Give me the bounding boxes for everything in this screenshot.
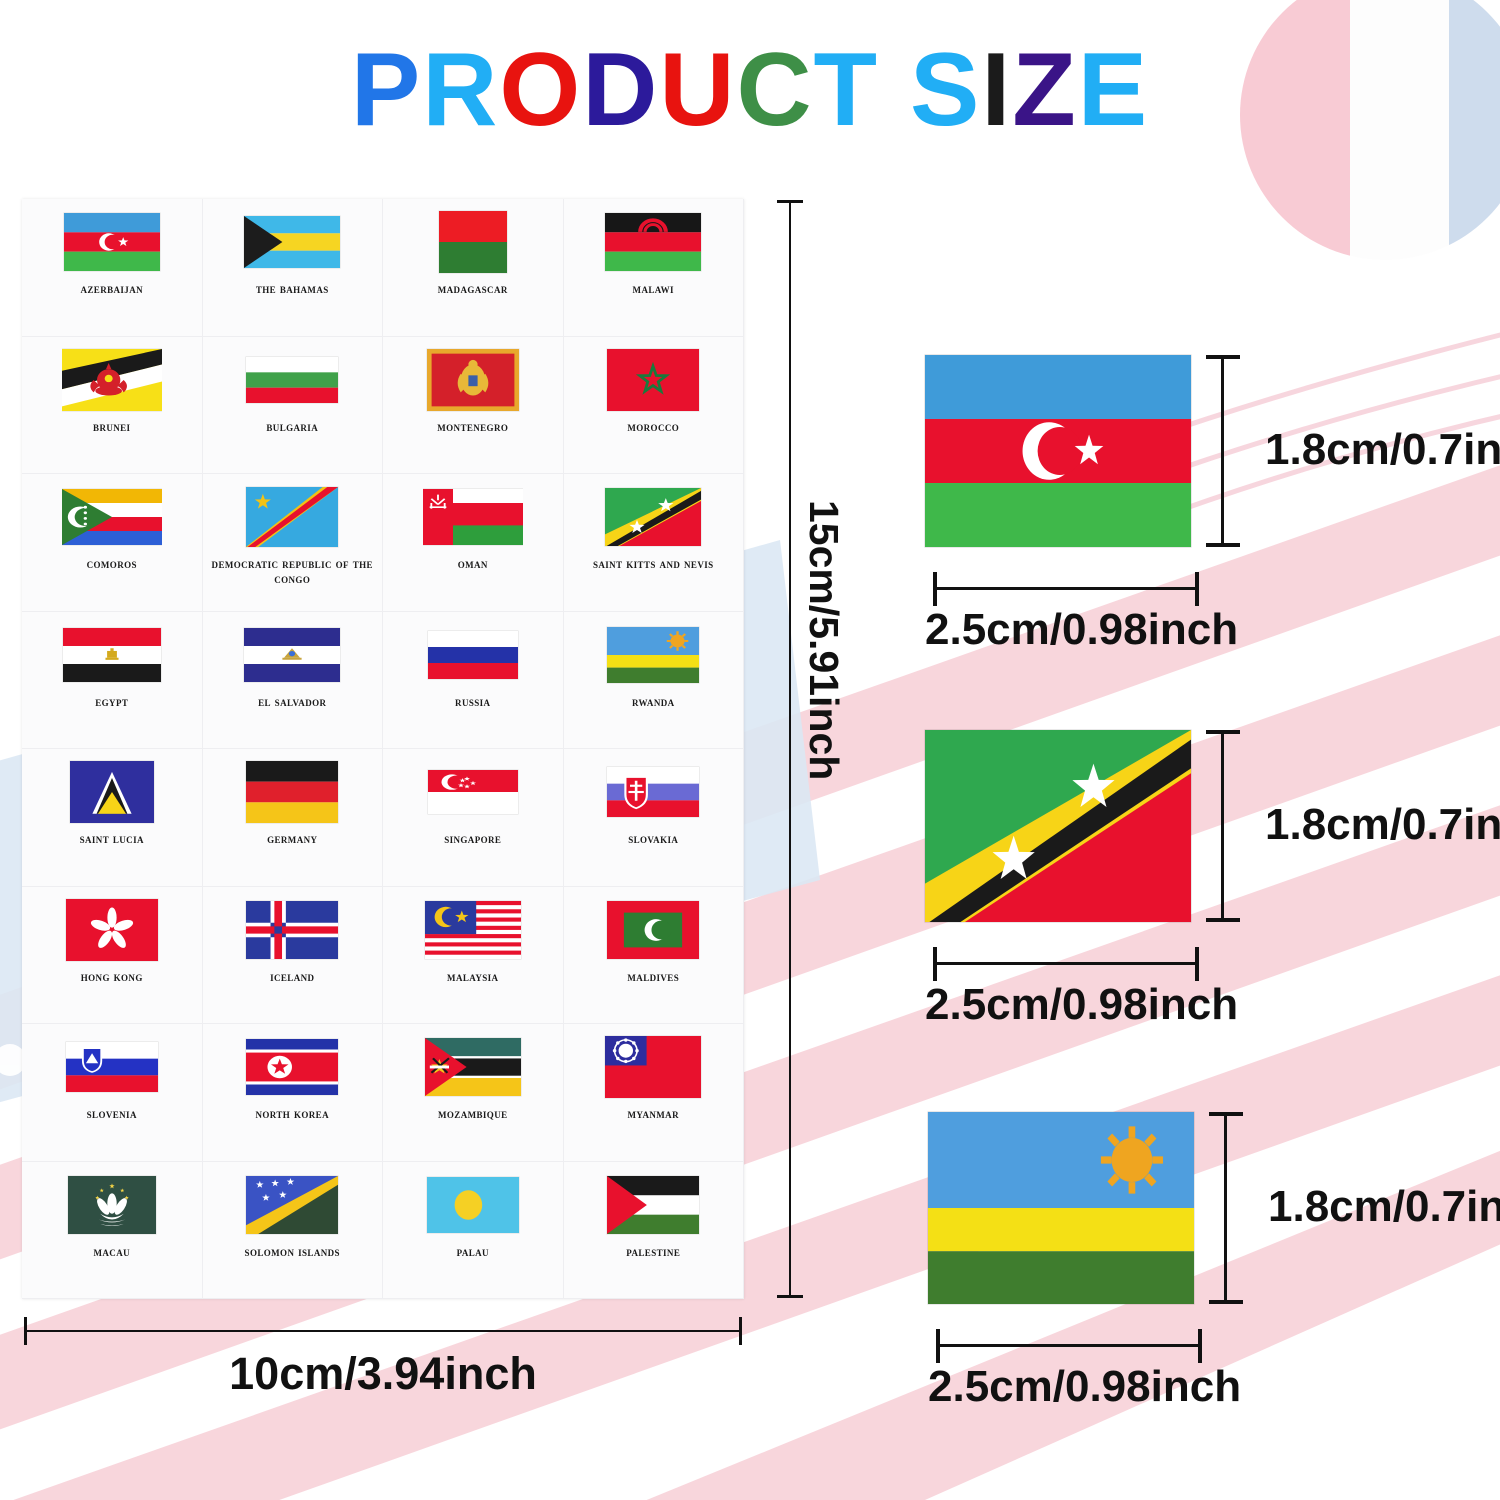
title-letter-4: U	[659, 38, 736, 142]
flag-graphic	[64, 213, 160, 271]
flag-cell: Comoros	[22, 474, 203, 612]
flag-graphic	[423, 489, 523, 545]
flag-cell: Macau	[22, 1162, 203, 1300]
flag-graphic	[246, 1176, 338, 1234]
title-letter-0: P	[351, 38, 422, 142]
dimension-cap-right	[739, 1317, 742, 1345]
flag-cell: Democratic Republic of the Congo	[203, 474, 384, 612]
flag-caption: Rwanda	[632, 694, 675, 709]
flag-graphic	[439, 211, 507, 273]
flag-macau	[68, 1176, 156, 1234]
flag-image-morocco	[603, 347, 703, 413]
flag-cell: Malawi	[564, 199, 745, 337]
flag-image-elsalvador	[242, 622, 342, 688]
detail-width-label: 2.5cm/0.98inch	[928, 1362, 1214, 1412]
detail-height-label: 1.8cm/0.7inch	[1265, 800, 1500, 850]
flag-caption: Montenegro	[437, 419, 508, 434]
flag-image-palau	[423, 1172, 523, 1238]
flag-russia	[428, 631, 518, 679]
dimension-cap-left	[24, 1317, 27, 1345]
title-letter-8: S	[910, 38, 981, 142]
flag-caption: Comoros	[87, 556, 137, 571]
flag-comoros	[62, 489, 162, 545]
title-letter-7	[879, 38, 910, 142]
detail-height-dimension-line	[1224, 1112, 1227, 1304]
detail-width-dimension-line	[936, 1344, 1202, 1347]
flag-cell: Montenegro	[383, 337, 564, 475]
title-letter-6: T	[814, 38, 880, 142]
flag-rwanda	[607, 627, 699, 683]
flag-image-hongkong	[62, 897, 162, 963]
flag-cell: Russia	[383, 612, 564, 750]
flag-brunei	[62, 349, 162, 411]
flag-caption: Hong Kong	[81, 969, 143, 984]
flag-image-stlucia	[62, 759, 162, 825]
flag-image-slovakia	[603, 759, 703, 825]
flag-caption: The Bahamas	[256, 281, 329, 296]
flag-cell: Madagascar	[383, 199, 564, 337]
sheet-height-dimension-line	[789, 200, 791, 1298]
detail-flag-azerbaijan	[925, 355, 1191, 547]
flag-caption: Palau	[457, 1244, 489, 1259]
flag-caption: Mozambique	[438, 1106, 508, 1121]
flag-image-iceland	[242, 897, 342, 963]
dimension-cap-left	[933, 947, 937, 981]
flag-cell: Oman	[383, 474, 564, 612]
flag-caption: Egypt	[95, 694, 128, 709]
flag-malaysia	[425, 901, 521, 959]
flag-cell: El Salvador	[203, 612, 384, 750]
flag-cell: Saint Kitts and Nevis	[564, 474, 745, 612]
detail-flag-rwanda	[928, 1112, 1194, 1304]
flag-palau	[427, 1177, 519, 1233]
flag-singapore	[428, 770, 518, 814]
flag-graphic	[605, 1036, 701, 1098]
flag-cell: Brunei	[22, 337, 203, 475]
dimension-cap-top	[1206, 730, 1240, 734]
dimension-cap-bottom	[1206, 918, 1240, 922]
flag-image-madagascar	[423, 209, 523, 275]
flag-bulgaria	[246, 357, 338, 403]
flag-cell: Rwanda	[564, 612, 745, 750]
flag-caption: Saint Lucia	[80, 831, 144, 846]
flag-cell: Hong Kong	[22, 887, 203, 1025]
flag-slovenia	[66, 1042, 158, 1092]
flag-graphic	[63, 628, 161, 682]
flag-graphic	[607, 1176, 699, 1234]
flag-palestine	[607, 1176, 699, 1234]
flag-cell: Malaysia	[383, 887, 564, 1025]
detail-width-label: 2.5cm/0.98inch	[925, 980, 1211, 1030]
title-letter-3: D	[582, 38, 659, 142]
flag-caption: Slovenia	[87, 1106, 137, 1121]
flag-cell: Solomon Islands	[203, 1162, 384, 1300]
flag-cell: Palestine	[564, 1162, 745, 1300]
flag-caption: El Salvador	[258, 694, 326, 709]
flag-graphic	[246, 487, 338, 547]
sticker-sheet: AzerbaijanThe BahamasMadagascarMalawiBru…	[22, 199, 744, 1299]
flag-image-germany	[242, 759, 342, 825]
flag-cell: Azerbaijan	[22, 199, 203, 337]
flag-image-palestine	[603, 1172, 703, 1238]
flag-graphic	[66, 899, 158, 961]
flag-image-montenegro	[423, 347, 523, 413]
flag-graphic	[425, 1038, 521, 1096]
flag-madagascar	[439, 211, 507, 273]
flag-caption: Oman	[458, 556, 488, 571]
flag-stkitts	[605, 488, 701, 546]
dimension-cap-left	[936, 1329, 940, 1363]
sheet-width-label: 10cm/3.94inch	[24, 1348, 742, 1400]
flag-grid: AzerbaijanThe BahamasMadagascarMalawiBru…	[22, 199, 744, 1299]
flag-image-singapore	[423, 759, 523, 825]
flag-cell: Slovenia	[22, 1024, 203, 1162]
dimension-cap-bottom	[1209, 1300, 1243, 1304]
dimension-cap-top	[777, 200, 803, 203]
flag-stlucia	[70, 761, 154, 823]
dimension-cap-right	[1195, 572, 1199, 606]
flag-image-egypt	[62, 622, 162, 688]
flag-caption: Solomon Islands	[245, 1244, 340, 1259]
flag-mozambique	[425, 1038, 521, 1096]
flag-graphic	[66, 1042, 158, 1092]
flag-graphic	[62, 349, 162, 411]
flag-cell: Palau	[383, 1162, 564, 1300]
flag-image-russia	[423, 622, 523, 688]
flag-image-myanmar	[603, 1034, 703, 1100]
flag-image-bulgaria	[242, 347, 342, 413]
flag-caption: Malawi	[633, 281, 674, 296]
flag-slovakia	[607, 767, 699, 817]
flag-graphic	[62, 489, 162, 545]
flag-caption: Saint Kitts and Nevis	[593, 556, 714, 571]
flag-image-brunei	[62, 347, 162, 413]
flag-morocco	[607, 349, 699, 411]
title-letter-10: Z	[1012, 38, 1078, 142]
dimension-cap-right	[1198, 1329, 1202, 1363]
flag-egypt	[63, 628, 161, 682]
flag-image-northkorea	[242, 1034, 342, 1100]
dimension-cap-bottom	[1206, 543, 1240, 547]
dimension-cap-left	[933, 572, 937, 606]
sheet-width-dimension-line	[24, 1330, 742, 1332]
flag-graphic	[925, 355, 1191, 547]
flag-graphic	[246, 901, 338, 959]
flag-caption: Slovakia	[628, 831, 678, 846]
dimension-cap-top	[1209, 1112, 1243, 1116]
sheet-height-label: 15cm/5.91inch	[800, 500, 847, 780]
flag-cell: Mozambique	[383, 1024, 564, 1162]
flag-myanmar	[605, 1036, 701, 1098]
flag-graphic	[68, 1176, 156, 1234]
flag-caption: Malaysia	[447, 969, 498, 984]
flag-cell: Bulgaria	[203, 337, 384, 475]
flag-cell: Slovakia	[564, 749, 745, 887]
flag-graphic	[246, 357, 338, 403]
detail-width-dimension-line	[933, 587, 1199, 590]
flag-image-malaysia	[423, 897, 523, 963]
flag-graphic	[928, 1112, 1194, 1304]
flag-graphic	[246, 1039, 338, 1095]
flag-image-drcongo	[242, 484, 342, 550]
flag-graphic	[427, 1177, 519, 1233]
flag-image-maldives	[603, 897, 703, 963]
flag-cell: North Korea	[203, 1024, 384, 1162]
flag-image-stkitts	[603, 484, 703, 550]
flag-northkorea	[246, 1039, 338, 1095]
flag-elsalvador	[244, 628, 340, 682]
flag-graphic	[607, 767, 699, 817]
title-letter-1: R	[422, 38, 499, 142]
detail-width-label: 2.5cm/0.98inch	[925, 605, 1211, 655]
flag-image-macau	[62, 1172, 162, 1238]
flag-graphic	[428, 631, 518, 679]
flag-graphic	[607, 627, 699, 683]
flag-cell: Myanmar	[564, 1024, 745, 1162]
flag-image-mozambique	[423, 1034, 523, 1100]
flag-caption: Maldives	[627, 969, 679, 984]
flag-graphic	[246, 761, 338, 823]
flag-solomon	[246, 1176, 338, 1234]
flag-image-azerbaijan	[62, 209, 162, 275]
flag-cell: Saint Lucia	[22, 749, 203, 887]
flag-cell: Germany	[203, 749, 384, 887]
flag-cell: Iceland	[203, 887, 384, 1025]
title-letter-11: E	[1078, 38, 1149, 142]
flag-maldives	[607, 901, 699, 959]
flag-image-oman	[423, 484, 523, 550]
flag-graphic	[425, 901, 521, 959]
flag-graphic	[70, 761, 154, 823]
flag-caption: North Korea	[256, 1106, 329, 1121]
flag-caption: Democratic Republic of the Congo	[203, 556, 383, 586]
flag-graphic	[428, 770, 518, 814]
flag-graphic	[244, 216, 340, 268]
flag-graphic	[925, 730, 1191, 922]
flag-bahamas	[244, 216, 340, 268]
flag-graphic	[605, 488, 701, 546]
flag-graphic	[607, 349, 699, 411]
detail-height-dimension-line	[1221, 355, 1224, 547]
flag-caption: Palestine	[626, 1244, 680, 1259]
flag-cell: Singapore	[383, 749, 564, 887]
dimension-cap-bottom	[777, 1295, 803, 1298]
flag-image-comoros	[62, 484, 162, 550]
flag-cell: Morocco	[564, 337, 745, 475]
flag-montenegro	[427, 349, 519, 411]
flag-caption: Bulgaria	[266, 419, 318, 434]
flag-iceland	[246, 901, 338, 959]
flag-graphic	[427, 349, 519, 411]
title-letter-2: O	[499, 38, 582, 142]
detail-width-dimension-line	[933, 962, 1199, 965]
flag-graphic	[244, 628, 340, 682]
dimension-cap-top	[1206, 355, 1240, 359]
flag-cell: Egypt	[22, 612, 203, 750]
flag-caption: Madagascar	[438, 281, 508, 296]
flag-image-solomon	[242, 1172, 342, 1238]
flag-cell: The Bahamas	[203, 199, 384, 337]
flag-image-malawi	[603, 209, 703, 275]
flag-caption: Morocco	[627, 419, 679, 434]
dimension-cap-right	[1195, 947, 1199, 981]
title-letter-9: I	[981, 38, 1012, 142]
flag-cell: Maldives	[564, 887, 745, 1025]
flag-germany	[246, 761, 338, 823]
detail-flag-stkitts	[925, 730, 1191, 922]
flag-image-rwanda	[603, 622, 703, 688]
flag-caption: Macau	[93, 1244, 130, 1259]
flag-image-bahamas	[242, 209, 342, 275]
flag-caption: Russia	[455, 694, 490, 709]
flag-caption: Iceland	[270, 969, 314, 984]
flag-graphic	[607, 901, 699, 959]
flag-image-slovenia	[62, 1034, 162, 1100]
flag-hongkong	[66, 899, 158, 961]
flag-caption: Singapore	[444, 831, 501, 846]
title-letter-5: C	[736, 38, 813, 142]
flag-drcongo	[246, 487, 338, 547]
flag-caption: Azerbaijan	[80, 281, 143, 296]
flag-caption: Myanmar	[628, 1106, 679, 1121]
flag-caption: Germany	[267, 831, 317, 846]
flag-caption: Brunei	[93, 419, 130, 434]
detail-height-label: 1.8cm/0.7inch	[1268, 1182, 1500, 1232]
flag-oman	[423, 489, 523, 545]
flag-azerbaijan	[64, 213, 160, 271]
flag-malawi	[605, 213, 701, 271]
detail-height-label: 1.8cm/0.7inch	[1265, 425, 1500, 475]
page-title: PRODUCT SIZE	[0, 38, 1500, 142]
flag-graphic	[605, 213, 701, 271]
detail-height-dimension-line	[1221, 730, 1224, 922]
